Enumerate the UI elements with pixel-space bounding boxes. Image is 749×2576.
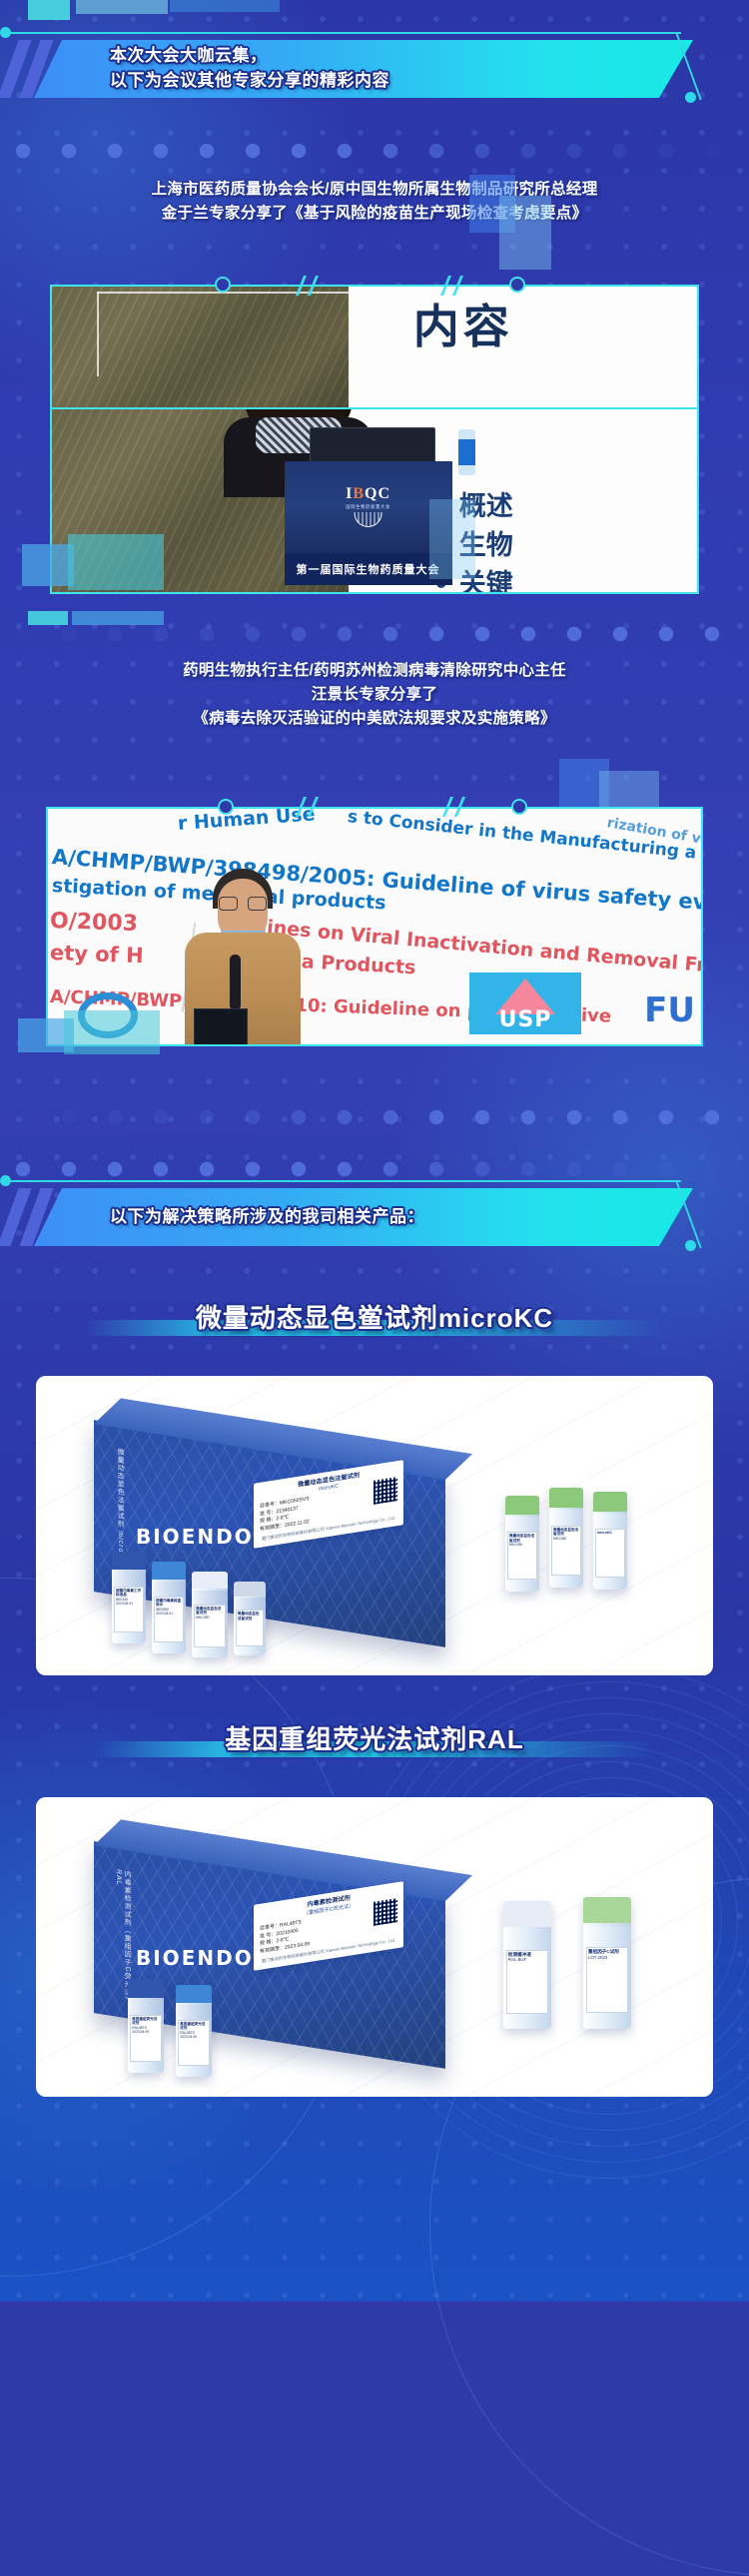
product-1-vial-5-code: MKC050 bbox=[553, 1537, 566, 1541]
product-2-vial-2-code: RAL BUF bbox=[508, 1957, 526, 1962]
product-1-title: 微量动态显色鲎试剂microKC bbox=[0, 1298, 749, 1335]
product-1-vial-2-name: 微量动态显色法鲎试剂 bbox=[196, 1607, 224, 1615]
banner-knob-left-2 bbox=[0, 1175, 11, 1186]
decor-square-s2-b bbox=[72, 611, 164, 625]
photo2-speaker-glasses bbox=[219, 897, 267, 911]
product-2-vial-3: 重组因子C试剂 LOT 2023 bbox=[583, 1897, 631, 2029]
product-1-vial-6-name: microKC bbox=[597, 1531, 623, 1535]
product-2-vial-2-label: 检测缓冲液 RAL BUF bbox=[506, 1950, 548, 2014]
photo1-logo-subtitle: 国际生物药质量大会 bbox=[346, 504, 390, 510]
product-2-vial-0-cap bbox=[128, 1979, 164, 2000]
product-1-vial-6-cap bbox=[593, 1492, 627, 1514]
product-1-photo-card: 微量动态显色法鲎试剂 microKC BIOENDO 微量动态显色法鲎试剂 mi… bbox=[36, 1376, 713, 1675]
product-2-vial-3-code: LOT 2023 bbox=[588, 1955, 607, 1960]
product-2-vial-3-label: 重组因子C试剂 LOT 2023 bbox=[586, 1947, 628, 2013]
section-banner-2: 以下为解决策略所涉及的我司相关产品： bbox=[0, 1178, 749, 1256]
photo1-water-bottle bbox=[458, 429, 475, 475]
product-1-vial-3: 微量动态显色法鲎试剂 bbox=[234, 1582, 266, 1655]
photo2-slide-line-8: ety of H bbox=[50, 941, 145, 967]
speaker-2-line-2: 汪景长专家分享了 bbox=[0, 683, 749, 707]
product-2-vial-2: 检测缓冲液 RAL BUF bbox=[503, 1901, 551, 2029]
photo2-monitor bbox=[194, 1008, 248, 1044]
banner-text-2: 以下为解决策略所涉及的我司相关产品： bbox=[110, 1178, 424, 1256]
product-2-vial-1-cap bbox=[176, 1985, 212, 2005]
product-1-box-brand: BIOENDO bbox=[136, 1526, 254, 1550]
product-2-photo-card: 内毒素检测试剂（重组因子C荧光法）RAL BIOENDO 内毒素检测试剂 （重组… bbox=[36, 1797, 713, 2097]
product-2-vial-0-label: 基因重组荧光法试剂 RAL48TS 2023.04.09 bbox=[130, 2015, 162, 2062]
decor-square-blue bbox=[170, 0, 280, 12]
decor-block-photo1-c bbox=[22, 544, 74, 586]
product-1-box-side-text: 微量动态显色法鲎试剂 microKC bbox=[115, 1448, 125, 1566]
product-1-vial-1-label: 细菌内毒素检查用水 WE0050 2023.08.01 bbox=[154, 1597, 184, 1642]
banner-2-line-1: 以下为解决策略所涉及的我司相关产品： bbox=[110, 1205, 424, 1230]
photo1-deco-ring-right bbox=[509, 277, 525, 293]
product-1-vial-5-cap bbox=[549, 1488, 583, 1510]
product-2-title: 基因重组荧光法试剂RAL bbox=[0, 1719, 749, 1756]
photo1-wall-line-v bbox=[97, 292, 99, 376]
decor-block-photo2-e bbox=[64, 1010, 160, 1054]
product-1-vial-0-date: 2023.06.01 bbox=[116, 1602, 133, 1606]
decor-block-photo1-b bbox=[499, 196, 551, 270]
photo1-slide-title: 内容 bbox=[413, 291, 513, 356]
photo1-conference-banner: 第一届国际生物药质量大会 bbox=[285, 553, 452, 585]
product-2-vial-1: 基因重组荧光法试剂 RAL48TS 2023.04.09 bbox=[176, 1985, 212, 2077]
banner-text-1: 本次大会大咖云集， 以下为会议其他专家分享的精彩内容 bbox=[110, 30, 389, 108]
decor-square-light bbox=[76, 0, 168, 14]
product-2-vial-0-date: 2023.04.09 bbox=[132, 2030, 149, 2034]
product-1-vial-2-code: MKC050 bbox=[196, 1615, 209, 1619]
photo1-podium: IBQC 国际生物药质量大会 bbox=[285, 461, 452, 553]
product-1-vial-6: microKC bbox=[593, 1492, 627, 1590]
decor-block-photo1-d bbox=[68, 534, 164, 590]
product-2-vial-1-date: 2023.04.09 bbox=[180, 2035, 197, 2039]
product-2-vial-1-label: 基因重组荧光法试剂 RAL48TS 2023.04.09 bbox=[178, 2020, 210, 2066]
speaker-1-photo: 内容 bbox=[50, 285, 699, 409]
product-1-vial-5-name: 微量动态显色法鲎试剂 bbox=[553, 1528, 579, 1537]
product-2-vial-3-cap bbox=[583, 1897, 631, 1926]
decor-square-s2-a bbox=[28, 611, 68, 625]
product-1-vial-0-cap bbox=[112, 1552, 146, 1572]
photo1-logo-text: IBQC bbox=[346, 485, 390, 503]
photo2-speaker-figure bbox=[178, 869, 308, 1044]
product-1-vial-5: 微量动态显色法鲎试剂 MKC050 bbox=[549, 1488, 583, 1588]
photo2-usp-logo: USP bbox=[469, 972, 581, 1034]
banner-knob-right-1 bbox=[685, 92, 696, 103]
halftone-band-4 bbox=[0, 1094, 749, 1146]
product-1-vial-3-label: 微量动态显色法鲎试剂 bbox=[236, 1610, 264, 1646]
product-1-vial-4-label: 微量动态显色法鲎试剂 MKC050 bbox=[507, 1532, 537, 1580]
globe-icon bbox=[355, 512, 382, 527]
product-2-box-brand: BIOENDO bbox=[136, 1947, 254, 1971]
product-1-vial-0-name: 细菌内毒素工作标准品 bbox=[116, 1589, 142, 1598]
product-2-vial-0: 基因重组荧光法试剂 RAL48TS 2023.04.09 bbox=[128, 1979, 164, 2073]
speaker-1-line-2: 金于兰专家分享了《基于风险的疫苗生产现场检查考虑要点》 bbox=[0, 202, 749, 226]
photo1-deco-ring-left bbox=[215, 277, 231, 293]
photo2-usp-label: USP bbox=[499, 1007, 552, 1032]
photo2-deco-ring-right bbox=[511, 799, 527, 815]
product-1-vial-1-name: 细菌内毒素检查用水 bbox=[156, 1599, 182, 1608]
product-1-vial-0: 细菌内毒素工作标准品 BE0150 2023.06.01 bbox=[112, 1552, 146, 1643]
qr-code-icon bbox=[374, 1477, 397, 1505]
banner-1-line-2: 以下为会议其他专家分享的精彩内容 bbox=[110, 69, 389, 94]
product-1-vial-1: 细菌内毒素检查用水 WE0050 2023.08.01 bbox=[152, 1562, 186, 1653]
decor-block-photo2-c bbox=[429, 499, 475, 579]
speaker-2-line-1: 药明生物执行主任/药明苏州检测病毒清除研究中心主任 bbox=[0, 659, 749, 683]
product-1-vial-2-label: 微量动态显色法鲎试剂 MKC050 bbox=[194, 1605, 226, 1647]
product-1-vial-1-date: 2023.08.01 bbox=[156, 1611, 173, 1615]
halftone-band-1 bbox=[0, 128, 749, 180]
product-1-vial-3-name: 微量动态显色法鲎试剂 bbox=[238, 1611, 262, 1620]
product-1-vial-2: 微量动态显色法鲎试剂 MKC050 bbox=[192, 1572, 228, 1657]
qr-code-icon bbox=[374, 1898, 397, 1926]
photo2-slide-line-6: O/2003 bbox=[50, 909, 139, 937]
photo1-laptop bbox=[310, 427, 435, 463]
product-1-vial-4-name: 微量动态显色法鲎试剂 bbox=[509, 1534, 535, 1543]
product-1-vial-4-code: MKC050 bbox=[509, 1543, 522, 1547]
product-1-vial-4: 微量动态显色法鲎试剂 MKC050 bbox=[505, 1496, 539, 1592]
speaker-1-line-1: 上海市医药质量协会会长/原中国生物所属生物制品研究所总经理 bbox=[0, 178, 749, 202]
banner-1-line-1: 本次大会大咖云集， bbox=[110, 44, 389, 69]
microphone-icon bbox=[230, 955, 241, 1010]
photo2-deco-ring-left bbox=[218, 799, 234, 815]
speaker-1-headline: 上海市医药质量协会会长/原中国生物所属生物制品研究所总经理 金于兰专家分享了《基… bbox=[0, 178, 749, 226]
product-1-vial-1-cap bbox=[152, 1562, 186, 1582]
product-1-vial-6-label: microKC bbox=[595, 1529, 625, 1578]
speaker-2-headline: 药明生物执行主任/药明苏州检测病毒清除研究中心主任 汪景长专家分享了 《病毒去除… bbox=[0, 659, 749, 731]
photo1-projection-screen bbox=[349, 287, 697, 407]
product-2-vial-0-name: 基因重组荧光法试剂 bbox=[132, 2017, 160, 2026]
product-2-vial-2-cap bbox=[503, 1901, 551, 1929]
product-1-vial-2-cap bbox=[192, 1572, 228, 1591]
product-1-vial-0-label: 细菌内毒素工作标准品 BE0150 2023.06.01 bbox=[114, 1587, 144, 1632]
product-1-vial-5-label: 微量动态显色法鲎试剂 MKC050 bbox=[551, 1526, 581, 1576]
photo2-fu-logo: FU bbox=[644, 990, 695, 1030]
section-banner-1: 本次大会大咖云集， 以下为会议其他专家分享的精彩内容 bbox=[0, 30, 749, 108]
banner-knob-right-2 bbox=[685, 1240, 696, 1251]
photo1-podium-logo: IBQC 国际生物药质量大会 bbox=[346, 485, 390, 527]
product-2-vial-1-name: 基因重组荧光法试剂 bbox=[180, 2022, 208, 2031]
speaker-2-line-3: 《病毒去除灭活验证的中美欧法规要求及实施策略》 bbox=[0, 707, 749, 731]
banner-knob-left-1 bbox=[0, 27, 11, 38]
product-1-vial-4-cap bbox=[505, 1496, 539, 1517]
photo1-conference-banner-text: 第一届国际生物药质量大会 bbox=[297, 561, 440, 577]
decor-square-teal bbox=[28, 0, 70, 20]
